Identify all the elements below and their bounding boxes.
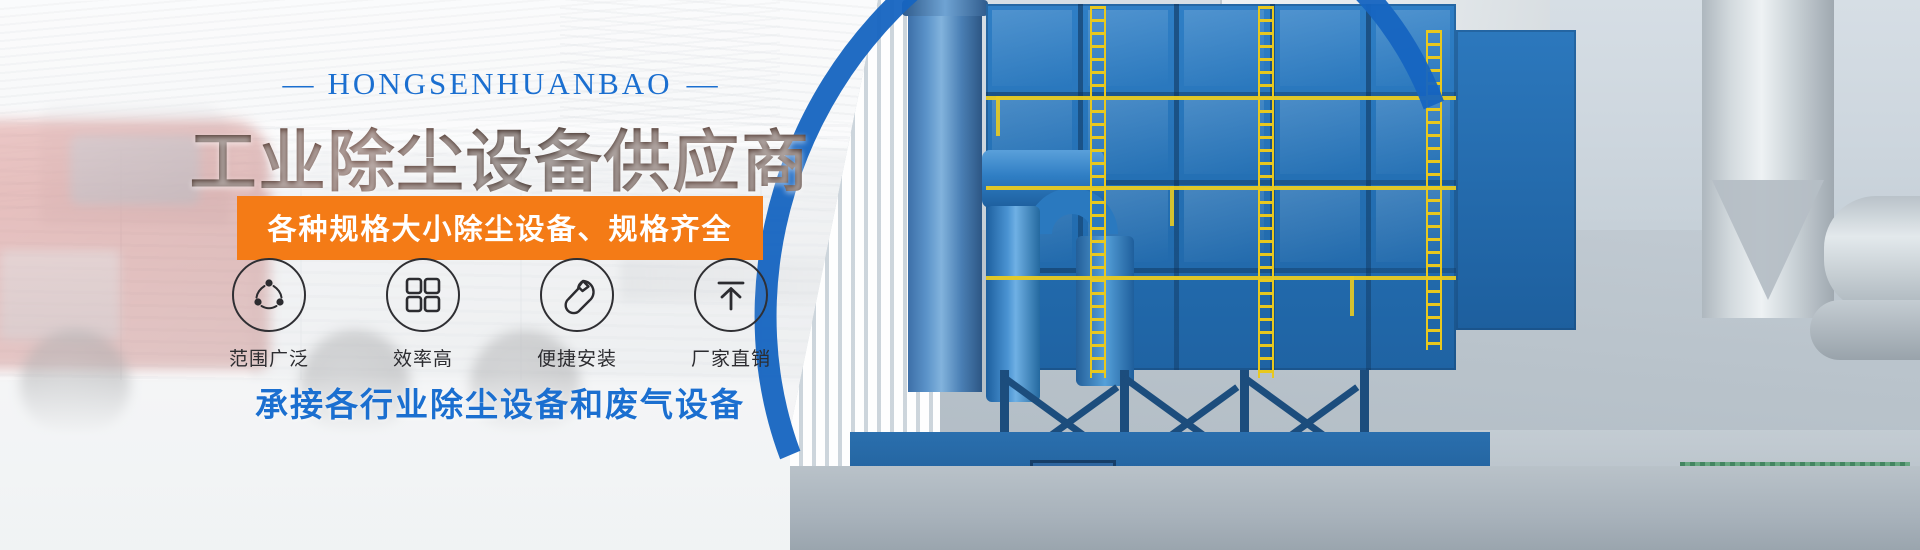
large-duct-pipe (1824, 196, 1920, 312)
page-title: 工业除尘设备供应商 (0, 108, 1000, 205)
orange-badge-wrap: 各种规格大小除尘设备、规格齐全 (0, 196, 1000, 260)
yellow-rail-post (1170, 186, 1174, 226)
blue-baghouse-unit-2 (1456, 30, 1576, 330)
feature-list: 范围广泛 效率高 (0, 258, 1000, 371)
feature-label: 效率高 (379, 344, 467, 371)
share-nodes-icon (232, 258, 306, 332)
tagline-badge: 各种规格大小除尘设备、规格齐全 (237, 196, 762, 260)
sub-tagline: 承接各行业除尘设备和废气设备 (0, 378, 1000, 426)
yellow-rail-post (1350, 276, 1354, 316)
feature-item-wide-range[interactable]: 范围广泛 (225, 258, 313, 371)
dash-right-icon: — (673, 66, 732, 101)
silo-cone (1712, 180, 1824, 300)
grid-four-squares-icon (386, 258, 460, 332)
large-duct-pipe-2 (1810, 300, 1920, 360)
wrench-icon (540, 258, 614, 332)
feature-item-high-efficiency[interactable]: 效率高 (379, 258, 467, 371)
brand-name-latin: HONGSENHUANBAO (327, 66, 672, 101)
hero-banner: —HONGSENHUANBAO— 工业除尘设备供应商 各种规格大小除尘设备、规格… (0, 0, 1920, 550)
dash-left-icon: — (268, 66, 327, 101)
feature-label: 厂家直销 (687, 344, 775, 371)
feature-item-easy-install[interactable]: 便捷安装 (533, 258, 621, 371)
feature-label: 范围广泛 (225, 344, 313, 371)
banner-content: —HONGSENHUANBAO— 工业除尘设备供应商 各种规格大小除尘设备、规格… (0, 0, 1120, 550)
arrow-up-bar-icon (694, 258, 768, 332)
yellow-ladder (1426, 30, 1442, 350)
brand-eyebrow: —HONGSENHUANBAO— (0, 66, 1000, 102)
yellow-ladder (1258, 6, 1274, 378)
feature-label: 便捷安装 (533, 344, 621, 371)
feature-item-factory-direct[interactable]: 厂家直销 (687, 258, 775, 371)
